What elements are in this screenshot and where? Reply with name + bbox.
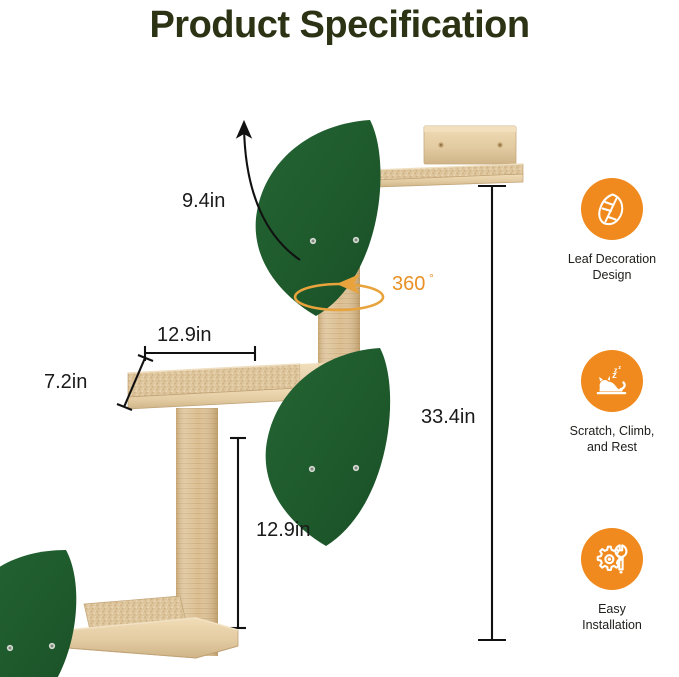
feature-badge-leaf-decoration — [581, 178, 643, 240]
dimension-platform-width: 12.9in — [145, 324, 255, 361]
dimension-total-height: 33.4in — [421, 186, 506, 640]
feature-item-leaf-decoration[interactable]: Leaf Decoration Design — [545, 178, 679, 283]
dimension-label-post-height: 12.9in — [256, 519, 311, 541]
feature-item-scratch-climb[interactable]: z z z Scratch, Climb, and Rest — [545, 350, 679, 455]
feature-label-scratch-climb: Scratch, Climb, and Rest — [545, 423, 679, 455]
rotation-degree-symbol: ° — [429, 271, 434, 285]
dimension-label-leaf-length: 9.4in — [182, 190, 225, 212]
feature-list: Leaf Decoration Design z z z — [545, 58, 679, 677]
product-diagram: 9.4in 360 ° 12.9in 7.2in — [0, 58, 545, 677]
top-shelf — [377, 126, 523, 187]
sleeping-cat-icon: z z z — [591, 360, 633, 402]
dimension-label-total-height: 33.4in — [421, 406, 476, 428]
page-title: Product Specification — [0, 2, 679, 48]
rotation-value: 360 — [392, 273, 425, 295]
feature-item-easy-install[interactable]: Easy Installation — [545, 528, 679, 633]
feature-label-leaf-decoration: Leaf Decoration Design — [545, 251, 679, 283]
feature-badge-easy-install — [581, 528, 643, 590]
feature-badge-scratch-climb: z z z — [581, 350, 643, 412]
feature-label-easy-install: Easy Installation — [545, 601, 679, 633]
dimension-label-platform-depth: 7.2in — [44, 371, 87, 393]
svg-text:z: z — [618, 365, 621, 371]
base-leaf — [0, 550, 76, 677]
gear-wrench-icon — [592, 539, 632, 579]
svg-text:z: z — [612, 370, 617, 381]
leaf-icon — [592, 189, 632, 229]
dimension-label-platform-width: 12.9in — [157, 324, 212, 346]
